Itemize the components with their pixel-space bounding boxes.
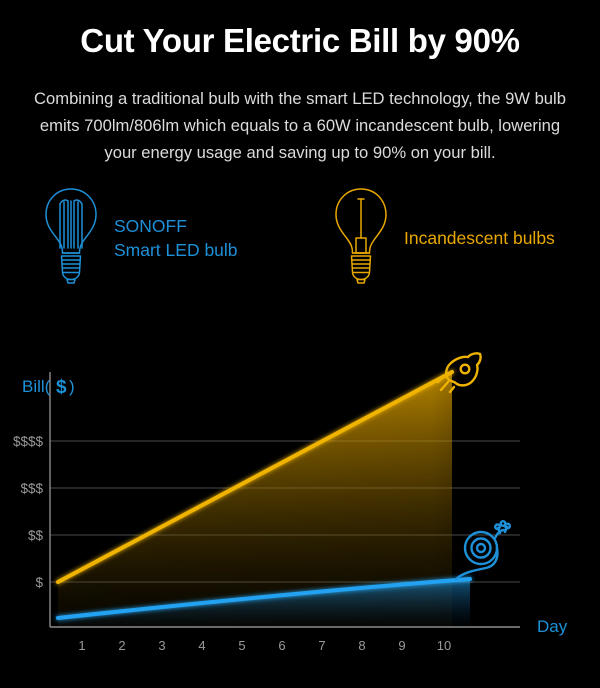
y-axis-title-symbol: $ — [56, 377, 67, 398]
x-tick-label: 2 — [118, 638, 125, 653]
y-tick-label: $$$ — [20, 481, 43, 496]
legend-label-led-product: Smart LED bulb — [114, 239, 238, 262]
page-title: Cut Your Electric Bill by 90% — [0, 22, 600, 60]
x-tick-label: 7 — [318, 638, 325, 653]
y-axis-tick-labels: $$$$ $$$ $$ $ — [13, 434, 44, 590]
x-tick-label: 9 — [398, 638, 405, 653]
x-tick-label: 10 — [437, 638, 451, 653]
y-tick-label: $$$$ — [13, 434, 44, 449]
legend-item-incandescent-bulb: Incandescent bulbs — [330, 186, 555, 291]
y-tick-label: $$ — [28, 528, 44, 543]
legend-label-led-bulb: SONOFF Smart LED bulb — [114, 215, 238, 261]
y-axis-title-close: ) — [69, 377, 75, 396]
x-tick-label: 1 — [78, 638, 85, 653]
y-axis-title: Bill( $ ) — [22, 377, 75, 398]
rocket-icon — [438, 353, 481, 392]
x-axis-title: Day — [537, 617, 568, 636]
x-tick-label: 8 — [358, 638, 365, 653]
legend-label-incandescent-bulb: Incandescent bulbs — [404, 227, 555, 250]
x-axis-tick-labels: 1 2 3 4 5 6 7 8 9 10 — [78, 638, 451, 653]
y-tick-label: $ — [35, 575, 43, 590]
legend-item-led-bulb: SONOFF Smart LED bulb — [40, 186, 238, 291]
page-description: Combining a traditional bulb with the sm… — [22, 86, 578, 167]
legend-label-led-brand: SONOFF — [114, 215, 238, 238]
x-tick-label: 5 — [238, 638, 245, 653]
led-bulb-icon — [40, 186, 102, 291]
x-tick-label: 4 — [198, 638, 205, 653]
x-tick-label: 6 — [278, 638, 285, 653]
x-tick-label: 3 — [158, 638, 165, 653]
y-axis-title-text: Bill( — [22, 377, 51, 396]
bill-comparison-chart: Bill( $ ) — [0, 330, 600, 688]
snail-icon — [456, 521, 510, 579]
incandescent-bulb-icon — [330, 186, 392, 291]
